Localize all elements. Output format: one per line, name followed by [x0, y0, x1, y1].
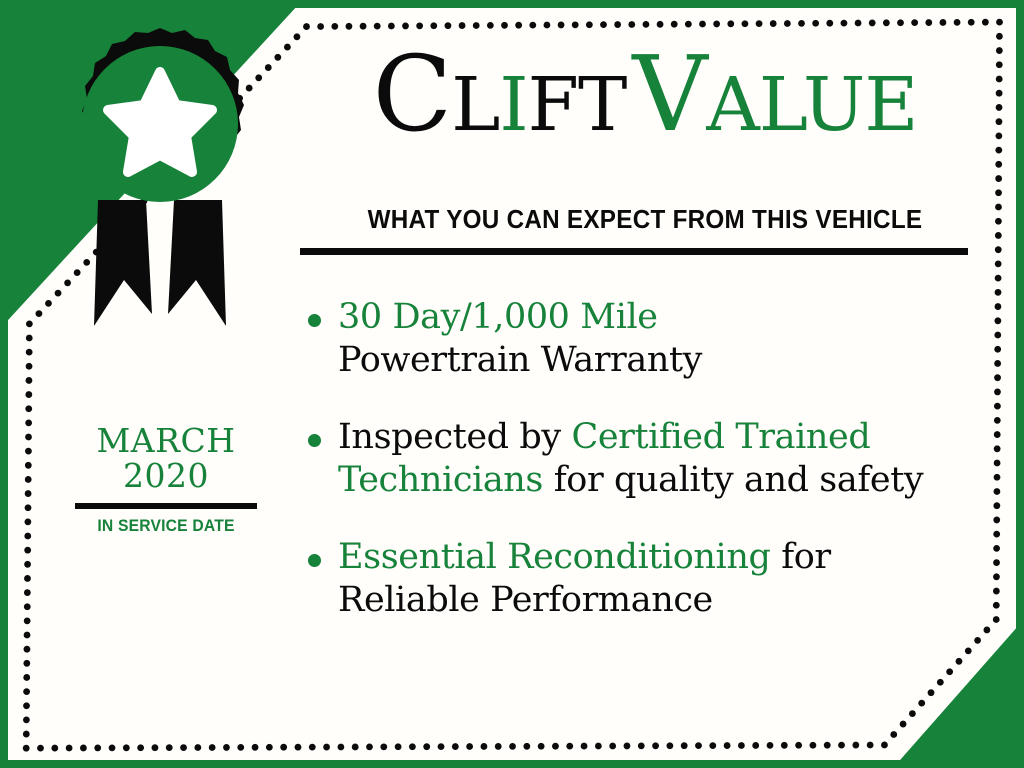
subtitle-divider [300, 248, 968, 255]
clift-value-vehicle-card: CLIFTVALUE WHAT YOU CAN EXPECT FROM THIS… [0, 0, 1024, 768]
list-item-seg-green: Essential Reconditioning [338, 537, 770, 577]
expectations-list: 30 Day/1,000 MilePowertrain Warranty Ins… [308, 296, 968, 622]
list-item-seg-black: Inspected by [338, 417, 571, 457]
list-item: Essential Reconditioning for Reliable Pe… [308, 536, 968, 622]
bullet-dot-icon [308, 314, 321, 327]
award-ribbon-star-icon [36, 14, 284, 334]
logo-clift-l: L [451, 62, 499, 148]
in-service-year: 2020 [68, 459, 264, 494]
in-service-divider [75, 503, 257, 509]
list-item-seg-black: Powertrain Warranty [338, 340, 702, 380]
bullet-dot-icon [308, 554, 321, 567]
list-item: 30 Day/1,000 MilePowertrain Warranty [308, 296, 968, 382]
logo-clift-ft: FT [528, 62, 627, 148]
logo-value: VALUE [632, 115, 917, 134]
bullet-dot-icon [308, 434, 321, 447]
list-item: Inspected by Certified Trained Technicia… [308, 416, 968, 502]
list-item-seg-green: 30 Day/1,000 Mile [338, 297, 658, 337]
brand-logo: CLIFTVALUE [300, 42, 990, 146]
logo-clift-c: C [373, 33, 452, 155]
list-item-seg-black-2: for quality and safety [543, 460, 923, 500]
subtitle: WHAT YOU CAN EXPECT FROM THIS VEHICLE [317, 206, 973, 235]
in-service-date-block: MARCH 2020 IN SERVICE DATE [68, 424, 264, 536]
list-item-text: 30 Day/1,000 MilePowertrain Warranty [338, 296, 702, 382]
logo-value-v: V [632, 33, 706, 155]
in-service-label: IN SERVICE DATE [73, 517, 259, 536]
list-item-text: Essential Reconditioning for Reliable Pe… [338, 536, 968, 622]
in-service-month: MARCH [68, 424, 264, 459]
logo-value-alue: ALUE [706, 62, 917, 148]
logo-clift: CLIFT [373, 115, 627, 134]
logo-clift-i: I [499, 62, 527, 148]
list-item-text: Inspected by Certified Trained Technicia… [338, 416, 968, 502]
